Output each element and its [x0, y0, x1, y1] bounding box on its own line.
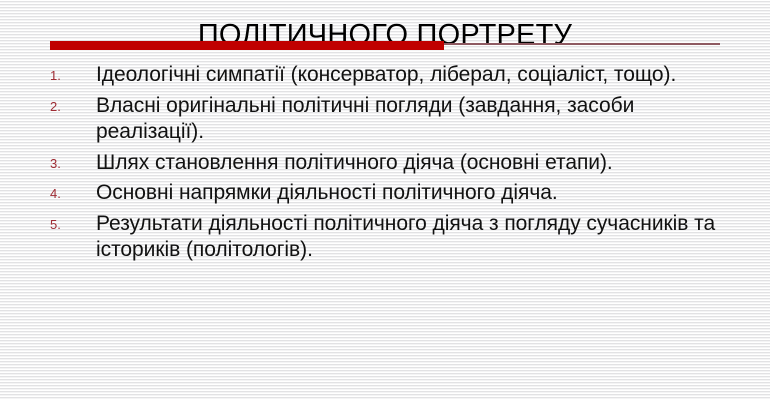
title-divider [50, 40, 720, 51]
list-item: 1. Ідеологічні симпатії (консерватор, лі… [0, 62, 770, 89]
list-item-marker: 1. [50, 69, 76, 82]
list-item-text: Основні напрямки діяльності політичного … [96, 180, 730, 207]
list-item-text: Шлях становлення політичного діяча (осно… [96, 150, 730, 177]
list-item-text: Власні оригінальні політичні погляди (за… [96, 93, 730, 146]
divider-accent-bar [50, 41, 444, 50]
list-item-text: Ідеологічні симпатії (консерватор, лібер… [96, 62, 730, 89]
list-item-marker: 4. [50, 187, 76, 200]
list-item: 4. Основні напрямки діяльності політично… [0, 180, 770, 207]
presentation-slide: ПОЛІТИЧНОГО ПОРТРЕТУ 1. Ідеологічні симп… [0, 0, 770, 400]
list-item-marker: 3. [50, 157, 76, 170]
list-item: 3. Шлях становлення політичного діяча (о… [0, 150, 770, 177]
list-item: 5. Результати діяльності політичного дія… [0, 211, 770, 264]
list-item-text: Результати діяльності політичного діяча … [96, 211, 730, 264]
list-item-marker: 5. [50, 218, 76, 231]
numbered-list: 1. Ідеологічні симпатії (консерватор, лі… [0, 62, 770, 268]
list-item-marker: 2. [50, 100, 76, 113]
list-item: 2. Власні оригінальні політичні погляди … [0, 93, 770, 146]
